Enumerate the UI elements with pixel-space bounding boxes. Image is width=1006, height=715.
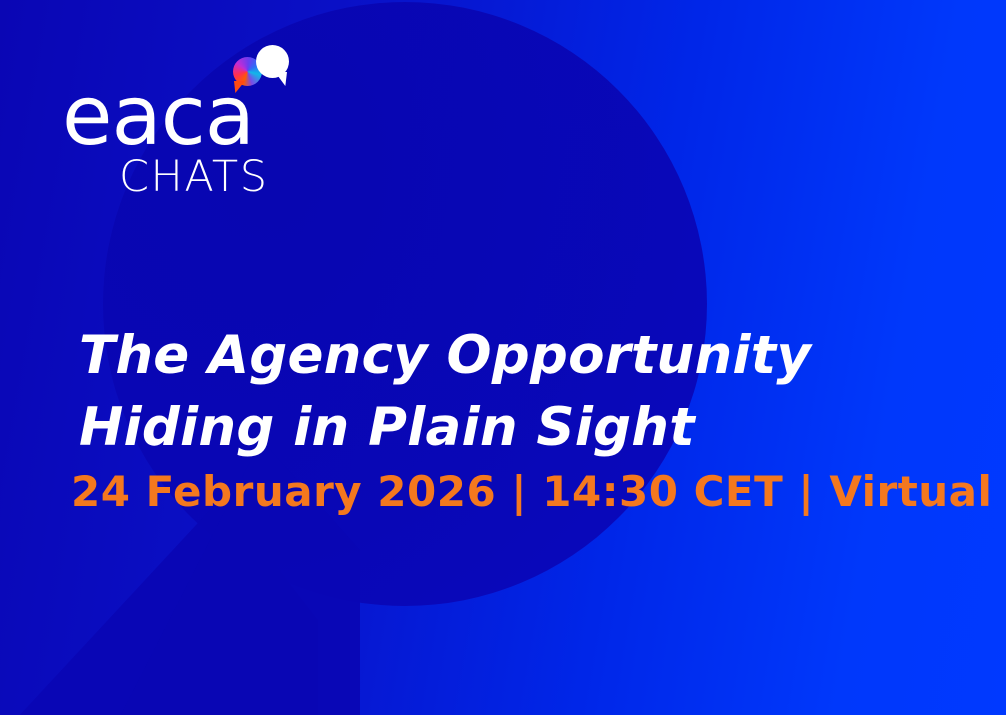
speech-bubble-white-icon — [256, 45, 289, 78]
page-title: The Agency Opportunity Hiding in Plain S… — [79, 320, 939, 464]
headline-line-2: Hiding in Plain Sight — [79, 392, 939, 464]
event-dateline: 24 February 2026 | 14:30 CET | Virtual — [71, 466, 992, 518]
logo-wordmark: eaca — [62, 76, 254, 158]
eaca-chats-logo[interactable]: eaca CHATS — [62, 40, 322, 190]
logo-subwordmark: CHATS — [119, 156, 269, 199]
headline-line-1: The Agency Opportunity — [79, 320, 939, 392]
event-banner: eaca CHATS The Agency Opportunity Hiding… — [0, 0, 1006, 715]
